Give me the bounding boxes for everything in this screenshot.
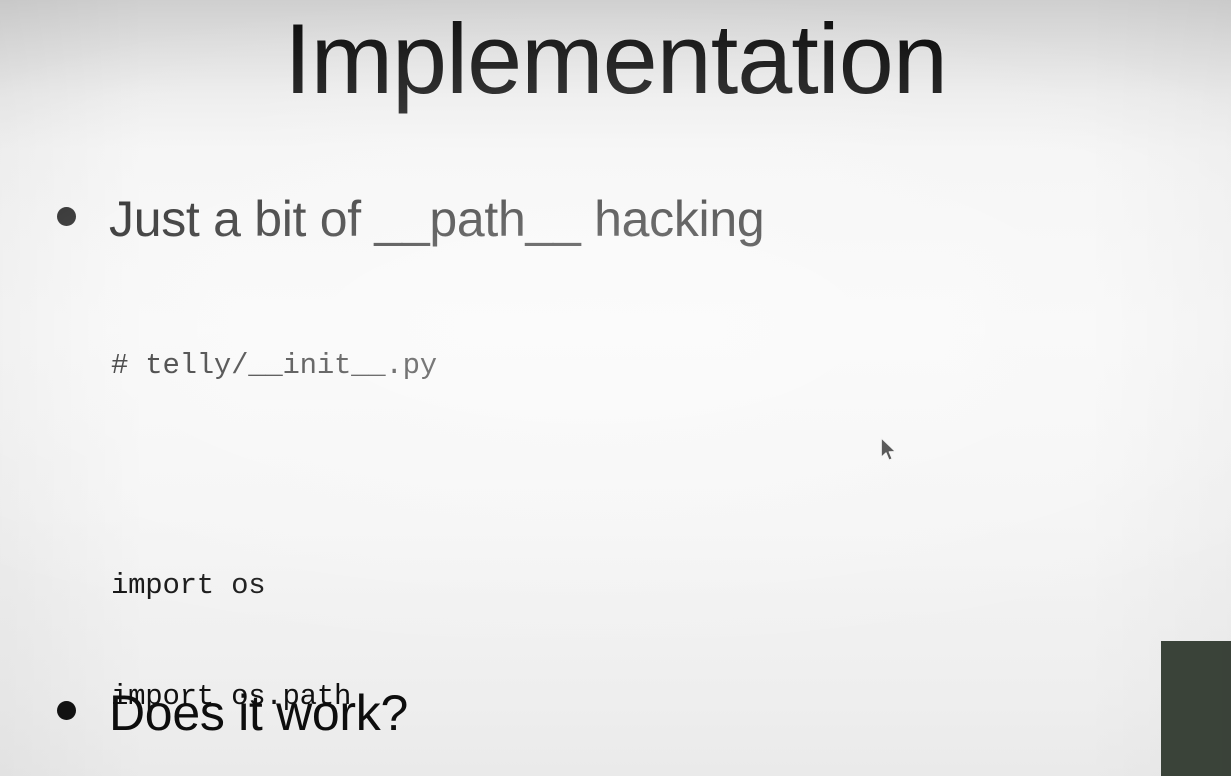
bullet-dot-icon — [57, 701, 76, 720]
bullet-item-1: Just a bit of __path__ hacking — [57, 193, 764, 246]
bullet-item-2: Does it work? — [57, 687, 408, 740]
bullet-item-1-label: Just a bit of __path__ hacking — [109, 193, 764, 246]
page-title: Implementation — [0, 6, 1231, 113]
code-line: import os — [111, 568, 1123, 605]
corner-panel — [1161, 641, 1231, 776]
bullet-item-2-label: Does it work? — [109, 687, 408, 740]
code-line: # telly/__init__.py — [111, 348, 1123, 385]
slide-canvas: Implementation Just a bit of __path__ ha… — [0, 0, 1231, 776]
code-line-blank — [111, 458, 1123, 495]
bullet-dot-icon — [57, 207, 76, 226]
